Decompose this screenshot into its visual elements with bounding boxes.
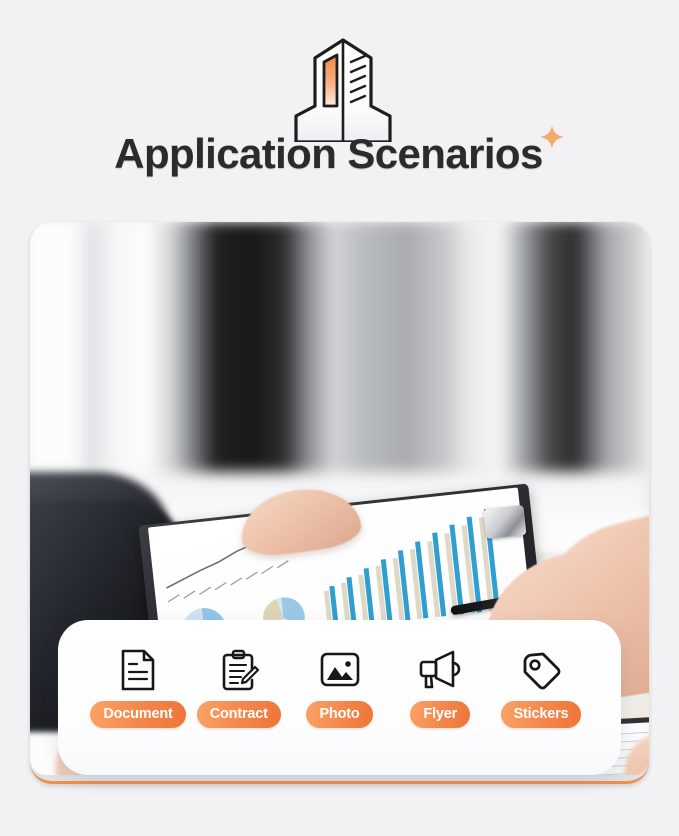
office-background bbox=[30, 222, 649, 512]
category-label-stickers[interactable]: Stickers bbox=[501, 701, 582, 728]
category-item-document[interactable]: Document bbox=[88, 648, 188, 728]
page-title: Application Scenarios bbox=[114, 128, 543, 180]
header: Application Scenarios bbox=[0, 0, 679, 210]
clipboard-clip bbox=[484, 505, 527, 539]
building-icon bbox=[288, 36, 398, 142]
category-label-contract[interactable]: Contract bbox=[197, 701, 281, 728]
sparkle-icon bbox=[539, 124, 565, 150]
category-item-stickers[interactable]: Stickers bbox=[491, 648, 591, 728]
tag-icon bbox=[519, 648, 563, 692]
category-item-contract[interactable]: Contract bbox=[189, 648, 289, 728]
category-card: Document Contract bbox=[58, 620, 621, 775]
category-item-photo[interactable]: Photo bbox=[290, 648, 390, 728]
category-label-photo[interactable]: Photo bbox=[306, 701, 372, 728]
promo-page: Application Scenarios bbox=[0, 0, 679, 836]
image-icon bbox=[318, 648, 362, 692]
category-item-flyer[interactable]: Flyer bbox=[390, 648, 490, 728]
document-icon bbox=[118, 648, 158, 692]
megaphone-icon bbox=[417, 648, 463, 692]
clipboard-pen-icon bbox=[218, 648, 260, 692]
category-label-flyer[interactable]: Flyer bbox=[410, 701, 470, 728]
category-label-document[interactable]: Document bbox=[90, 701, 185, 728]
page-title-row: Application Scenarios bbox=[0, 128, 679, 180]
